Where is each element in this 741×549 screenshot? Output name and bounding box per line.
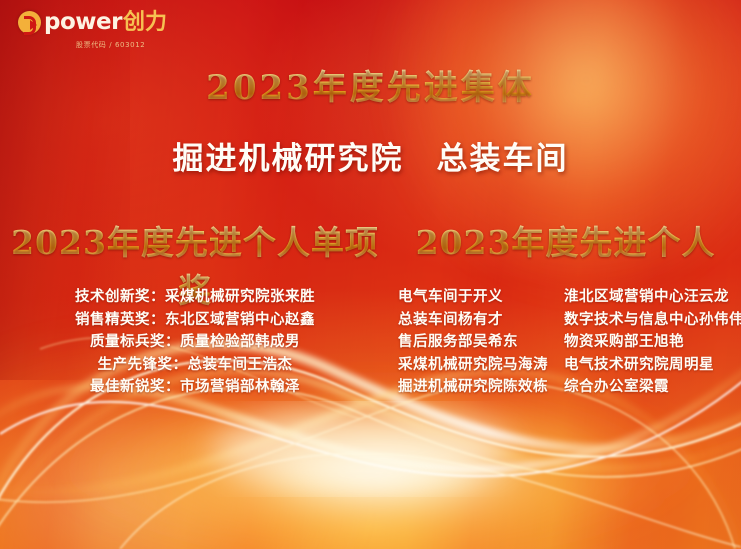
award-person: 总装车间王浩杰	[188, 354, 293, 377]
award-name: 生产先锋奖	[98, 354, 173, 377]
winners-columns: 技术创新奖 ： 采煤机械研究院张来胜 销售精英奖 ： 东北区域营销中心赵鑫 质量…	[0, 286, 741, 399]
list-item: 采煤机械研究院马海涛 电气技术研究院周明星	[390, 354, 741, 377]
list-item: 销售精英奖 ： 东北区域营销中心赵鑫	[0, 309, 390, 332]
award-person-right: 淮北区域营销中心汪云龙	[564, 286, 734, 309]
award-poster: power 创力 股票代码 / 603012 2023年度先进集体 掘进机械研究…	[0, 0, 741, 549]
logo-lockup: power 创力	[18, 11, 167, 34]
individual-award-list: 电气车间于开义 淮北区域营销中心汪云龙 总装车间杨有才 数字技术与信息中心孙伟伟…	[390, 286, 741, 399]
award-person: 东北区域营销中心赵鑫	[165, 309, 315, 332]
list-item: 售后服务部吴希东 物资采购部王旭艳	[390, 331, 741, 354]
separator: ：	[150, 309, 165, 332]
award-person-right: 电气技术研究院周明星	[564, 354, 734, 377]
separator: ：	[173, 354, 188, 377]
award-person-left: 电气车间于开义	[398, 286, 564, 309]
award-name: 质量标兵奖	[90, 331, 165, 354]
separator: ：	[150, 286, 165, 309]
award-name: 技术创新奖	[75, 286, 150, 309]
separator: ：	[165, 376, 180, 399]
section-heading-right-text: 2023年度先进个人	[416, 223, 716, 262]
company-logo[interactable]: power 创力 股票代码 / 603012	[18, 11, 167, 50]
page-title-text: 2023年度先进集体	[206, 68, 535, 108]
list-item: 质量标兵奖 ： 质量检验部韩成男	[0, 331, 390, 354]
award-person: 采煤机械研究院张来胜	[165, 286, 315, 309]
award-person-left: 掘进机械研究院陈效栋	[398, 376, 564, 399]
logo-chinese-name: 创力	[123, 12, 167, 34]
single-award-list: 技术创新奖 ： 采煤机械研究院张来胜 销售精英奖 ： 东北区域营销中心赵鑫 质量…	[0, 286, 390, 399]
award-person-left: 采煤机械研究院马海涛	[398, 354, 564, 377]
award-name: 销售精英奖	[75, 309, 150, 332]
award-person-left: 售后服务部吴希东	[398, 331, 564, 354]
logo-wordmark: power	[44, 11, 122, 34]
list-item: 最佳新锐奖 ： 市场营销部林翰泽	[0, 376, 390, 399]
separator: ：	[165, 331, 180, 354]
award-person-right: 物资采购部王旭艳	[564, 331, 734, 354]
award-person-right: 综合办公室梁霞	[564, 376, 734, 399]
list-item: 掘进机械研究院陈效栋 综合办公室梁霞	[390, 376, 741, 399]
award-person-left: 总装车间杨有才	[398, 309, 564, 332]
collective-winners: 掘进机械研究院 总装车间	[0, 133, 741, 178]
award-person: 市场营销部林翰泽	[180, 376, 300, 399]
award-person-right: 数字技术与信息中心孙伟伟	[564, 309, 734, 332]
list-item: 生产先锋奖 ： 总装车间王浩杰	[0, 354, 390, 377]
list-item: 技术创新奖 ： 采煤机械研究院张来胜	[0, 286, 390, 309]
power-circle-icon	[18, 11, 41, 34]
stock-code: 股票代码 / 603012	[76, 40, 145, 50]
list-item: 总装车间杨有才 数字技术与信息中心孙伟伟	[390, 309, 741, 332]
award-person: 质量检验部韩成男	[180, 331, 300, 354]
award-name: 最佳新锐奖	[90, 376, 165, 399]
list-item: 电气车间于开义 淮北区域营销中心汪云龙	[390, 286, 741, 309]
page-title: 2023年度先进集体	[0, 60, 741, 109]
